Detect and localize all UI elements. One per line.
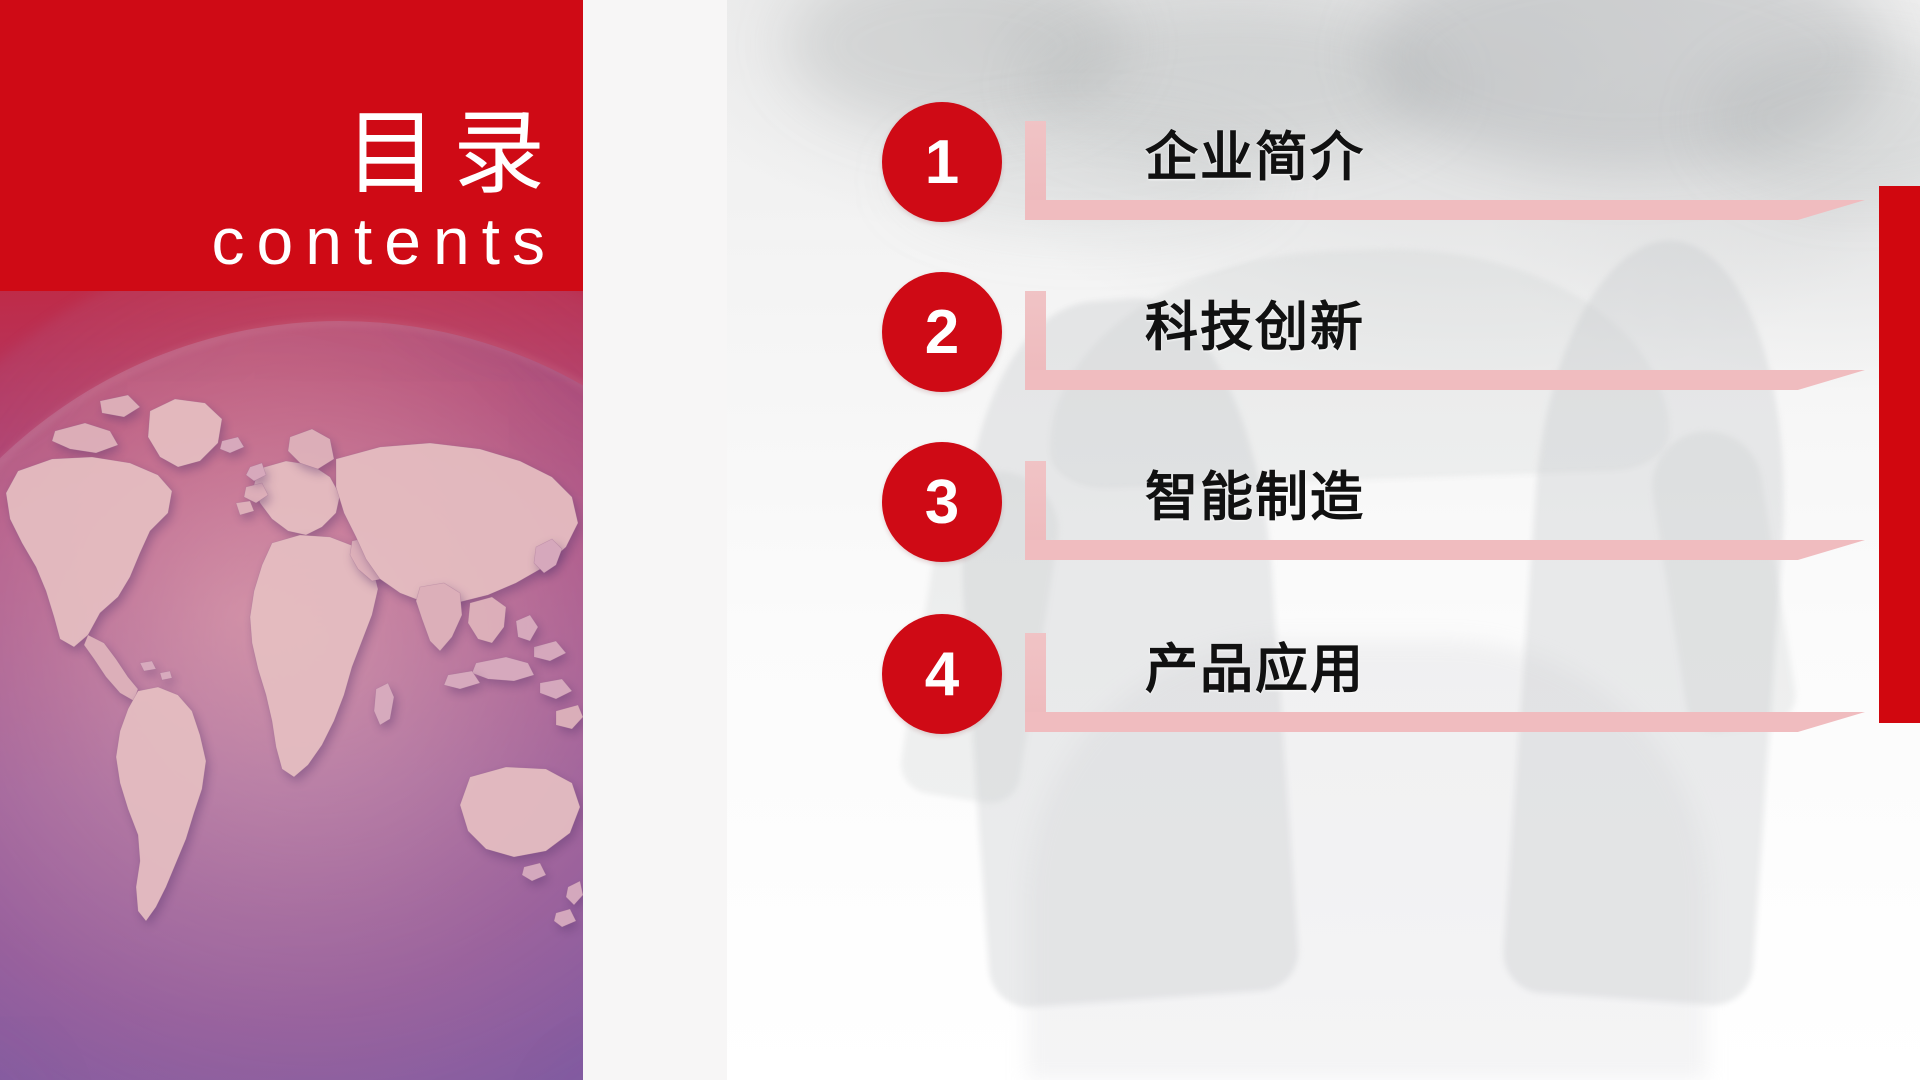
contents-list: 1 企业简介 2 科技创新 3 智能制造 4 产品应用: [727, 0, 1920, 1080]
item-number-badge: 1: [882, 102, 1002, 222]
item-number-badge: 4: [882, 614, 1002, 734]
item-number-badge: 3: [882, 442, 1002, 562]
item-label[interactable]: 产品应用: [1145, 627, 1365, 703]
contents-item[interactable]: 3 智能制造: [727, 442, 1920, 612]
bracket-arrow-icon: [1025, 712, 1865, 732]
bracket-arrow-icon: [1025, 370, 1865, 390]
bracket-arrow-icon: [1025, 200, 1865, 220]
slide-title: 目录 contents: [212, 108, 546, 274]
item-label[interactable]: 智能制造: [1145, 455, 1365, 531]
contents-item[interactable]: 2 科技创新: [727, 272, 1920, 442]
contents-item[interactable]: 4 产品应用: [727, 614, 1920, 784]
contents-item[interactable]: 1 企业简介: [727, 102, 1920, 272]
slide-canvas: 目录 contents 1 企业简介 2 科技创新 3 智能制造 4: [0, 0, 1920, 1080]
item-number-badge: 2: [882, 272, 1002, 392]
globe-image: [0, 291, 583, 1080]
item-label[interactable]: 科技创新: [1145, 285, 1365, 361]
world-map-continents: [0, 291, 583, 1080]
title-english: contents: [212, 208, 558, 274]
title-chinese: 目录: [212, 108, 562, 200]
left-title-panel: 目录 contents: [0, 0, 583, 1080]
bracket-arrow-icon: [1025, 540, 1865, 560]
item-label[interactable]: 企业简介: [1145, 115, 1365, 191]
